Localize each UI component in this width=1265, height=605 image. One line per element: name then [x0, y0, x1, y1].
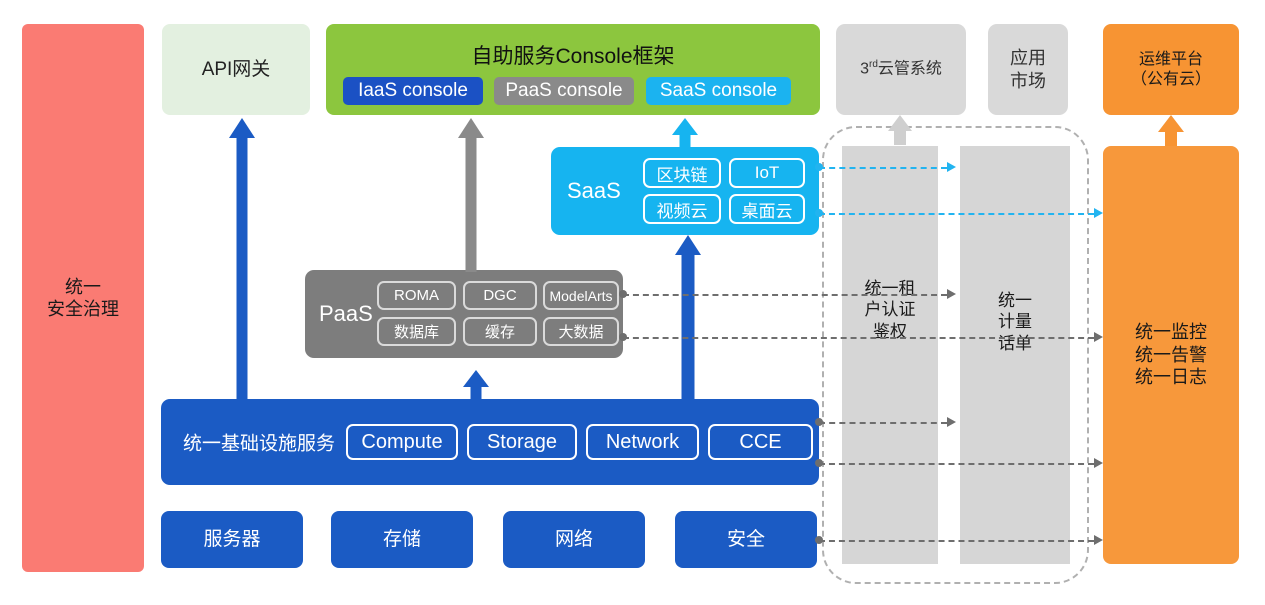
api-gateway-block: API网关	[162, 24, 310, 115]
paas-item-modelarts[interactable]: ModelArts	[543, 281, 619, 310]
hardware-storage-label: 存储	[383, 528, 421, 552]
app-market-line-1: 应用	[1010, 47, 1046, 70]
connector-hardware-to-ops	[819, 540, 1094, 542]
iaas-item-storage[interactable]: Storage	[467, 424, 577, 460]
unified-security-governance-block: 统一 安全治理	[22, 24, 144, 572]
connector-arrowhead-iaas-1	[947, 417, 956, 427]
ops-platform-public-cloud-block: 运维平台 （公有云）	[1103, 24, 1239, 115]
saas-item-desktop-cloud-label: 桌面云	[742, 197, 793, 222]
connector-iaas-to-ops	[819, 463, 1094, 465]
iaas-console-label: IaaS console	[358, 79, 468, 103]
ops-tall-line-3: 统一日志	[1135, 366, 1207, 389]
connector-saas-to-ops	[819, 213, 1094, 215]
connector-saas-to-auth	[819, 167, 947, 169]
architecture-diagram: 统一 安全治理 API网关 自助服务Console框架 IaaS console…	[0, 0, 1265, 605]
app-market-block: 应用 市场	[988, 24, 1068, 115]
iaas-item-network[interactable]: Network	[586, 424, 699, 460]
hardware-security-label: 安全	[727, 528, 765, 552]
hardware-server-block: 服务器	[161, 511, 303, 568]
hardware-security-block: 安全	[675, 511, 817, 568]
paas-console-chip[interactable]: PaaS console	[494, 77, 634, 105]
connector-arrowhead-paas-1	[947, 289, 956, 299]
hardware-network-label: 网络	[555, 528, 593, 552]
metering-line-1: 统一	[998, 290, 1032, 311]
connector-paas-to-ops	[623, 337, 1094, 339]
metering-line-3: 话单	[998, 333, 1032, 354]
saas-item-blockchain[interactable]: 区块链	[643, 158, 721, 188]
connector-paas-to-auth	[623, 294, 947, 296]
saas-console-chip[interactable]: SaaS console	[646, 77, 791, 105]
connector-arrowhead-saas-2	[1094, 208, 1103, 218]
unified-monitoring-block: 统一监控 统一告警 统一日志	[1103, 146, 1239, 564]
paas-console-label: PaaS console	[505, 79, 622, 103]
arrow-saas-to-console	[665, 118, 705, 149]
arrow-ops-to-ops-platform	[1151, 115, 1191, 146]
paas-layer-label: PaaS	[319, 301, 373, 327]
iaas-console-chip[interactable]: IaaS console	[343, 77, 483, 105]
paas-item-roma[interactable]: ROMA	[377, 281, 456, 310]
saas-console-label: SaaS console	[660, 79, 777, 103]
governance-line-1: 统一	[47, 276, 119, 299]
paas-item-cache[interactable]: 缓存	[463, 317, 537, 346]
connector-arrowhead-paas-2	[1094, 332, 1103, 342]
paas-layer-block: PaaS ROMA DGC ModelArts 数据库 缓存 大数据	[305, 270, 623, 358]
paas-item-bigdata[interactable]: 大数据	[543, 317, 619, 346]
paas-item-bigdata-label: 大数据	[558, 321, 603, 342]
arrow-iaas-to-paas	[458, 370, 494, 401]
saas-layer-block: SaaS 区块链 IoT 视频云 桌面云	[551, 147, 819, 235]
app-market-line-2: 市场	[1010, 70, 1046, 93]
saas-item-iot-label: IoT	[755, 163, 780, 183]
unified-metering-label: 统一 计量 话单	[960, 282, 1070, 362]
metering-line-2: 计量	[998, 311, 1032, 332]
third-party-label: 3rd云管系统	[860, 59, 942, 79]
paas-item-database[interactable]: 数据库	[377, 317, 456, 346]
saas-item-video-cloud[interactable]: 视频云	[643, 194, 721, 224]
iaas-item-compute[interactable]: Compute	[346, 424, 458, 460]
saas-layer-label: SaaS	[567, 178, 621, 204]
iaas-item-network-label: Network	[606, 431, 679, 454]
connector-arrowhead-saas-1	[947, 162, 956, 172]
paas-item-modelarts-label: ModelArts	[549, 288, 612, 304]
saas-item-video-cloud-label: 视频云	[657, 197, 708, 222]
iaas-bar-label: 统一基础设施服务	[183, 429, 335, 456]
iaas-item-compute-label: Compute	[361, 431, 442, 454]
ops-top-line-1: 运维平台	[1131, 50, 1211, 70]
iaas-item-cce[interactable]: CCE	[708, 424, 813, 460]
connector-arrowhead-iaas-2	[1094, 458, 1103, 468]
arrow-iaas-to-saas	[668, 235, 708, 401]
unified-infrastructure-service-bar: 统一基础设施服务 Compute Storage Network CCE	[161, 399, 819, 485]
hardware-server-label: 服务器	[203, 528, 260, 552]
auth-line-1: 统一租	[865, 278, 916, 299]
saas-item-desktop-cloud[interactable]: 桌面云	[729, 194, 805, 224]
console-framework-title: 自助服务Console框架	[326, 44, 820, 70]
paas-item-cache-label: 缓存	[485, 321, 515, 342]
arrow-iaas-to-api-gateway	[222, 118, 262, 400]
connector-arrowhead-hardware	[1094, 535, 1103, 545]
self-service-console-framework: 自助服务Console框架 IaaS console PaaS console …	[326, 24, 820, 115]
ops-tall-line-1: 统一监控	[1135, 321, 1207, 344]
paas-item-database-label: 数据库	[394, 321, 439, 342]
arrow-paas-to-console	[451, 118, 491, 272]
third-party-superscript: rd	[869, 59, 878, 70]
governance-line-2: 安全治理	[47, 298, 119, 321]
hardware-storage-block: 存储	[331, 511, 473, 568]
hardware-network-block: 网络	[503, 511, 645, 568]
saas-item-blockchain-label: 区块链	[657, 161, 708, 186]
api-gateway-label: API网关	[202, 58, 271, 82]
paas-item-dgc[interactable]: DGC	[463, 281, 537, 310]
ops-top-line-2: （公有云）	[1131, 70, 1211, 90]
auth-line-2: 户认证	[865, 299, 916, 320]
arrow-columns-to-third-party	[880, 115, 920, 145]
paas-item-dgc-label: DGC	[483, 287, 516, 304]
iaas-item-cce-label: CCE	[739, 431, 781, 454]
paas-item-roma-label: ROMA	[394, 287, 439, 304]
connector-iaas-to-auth	[819, 422, 947, 424]
unified-tenant-auth-column	[842, 146, 938, 564]
saas-item-iot[interactable]: IoT	[729, 158, 805, 188]
ops-tall-line-2: 统一告警	[1135, 344, 1207, 367]
third-party-cloud-management-block: 3rd云管系统	[836, 24, 966, 115]
iaas-item-storage-label: Storage	[487, 431, 557, 454]
